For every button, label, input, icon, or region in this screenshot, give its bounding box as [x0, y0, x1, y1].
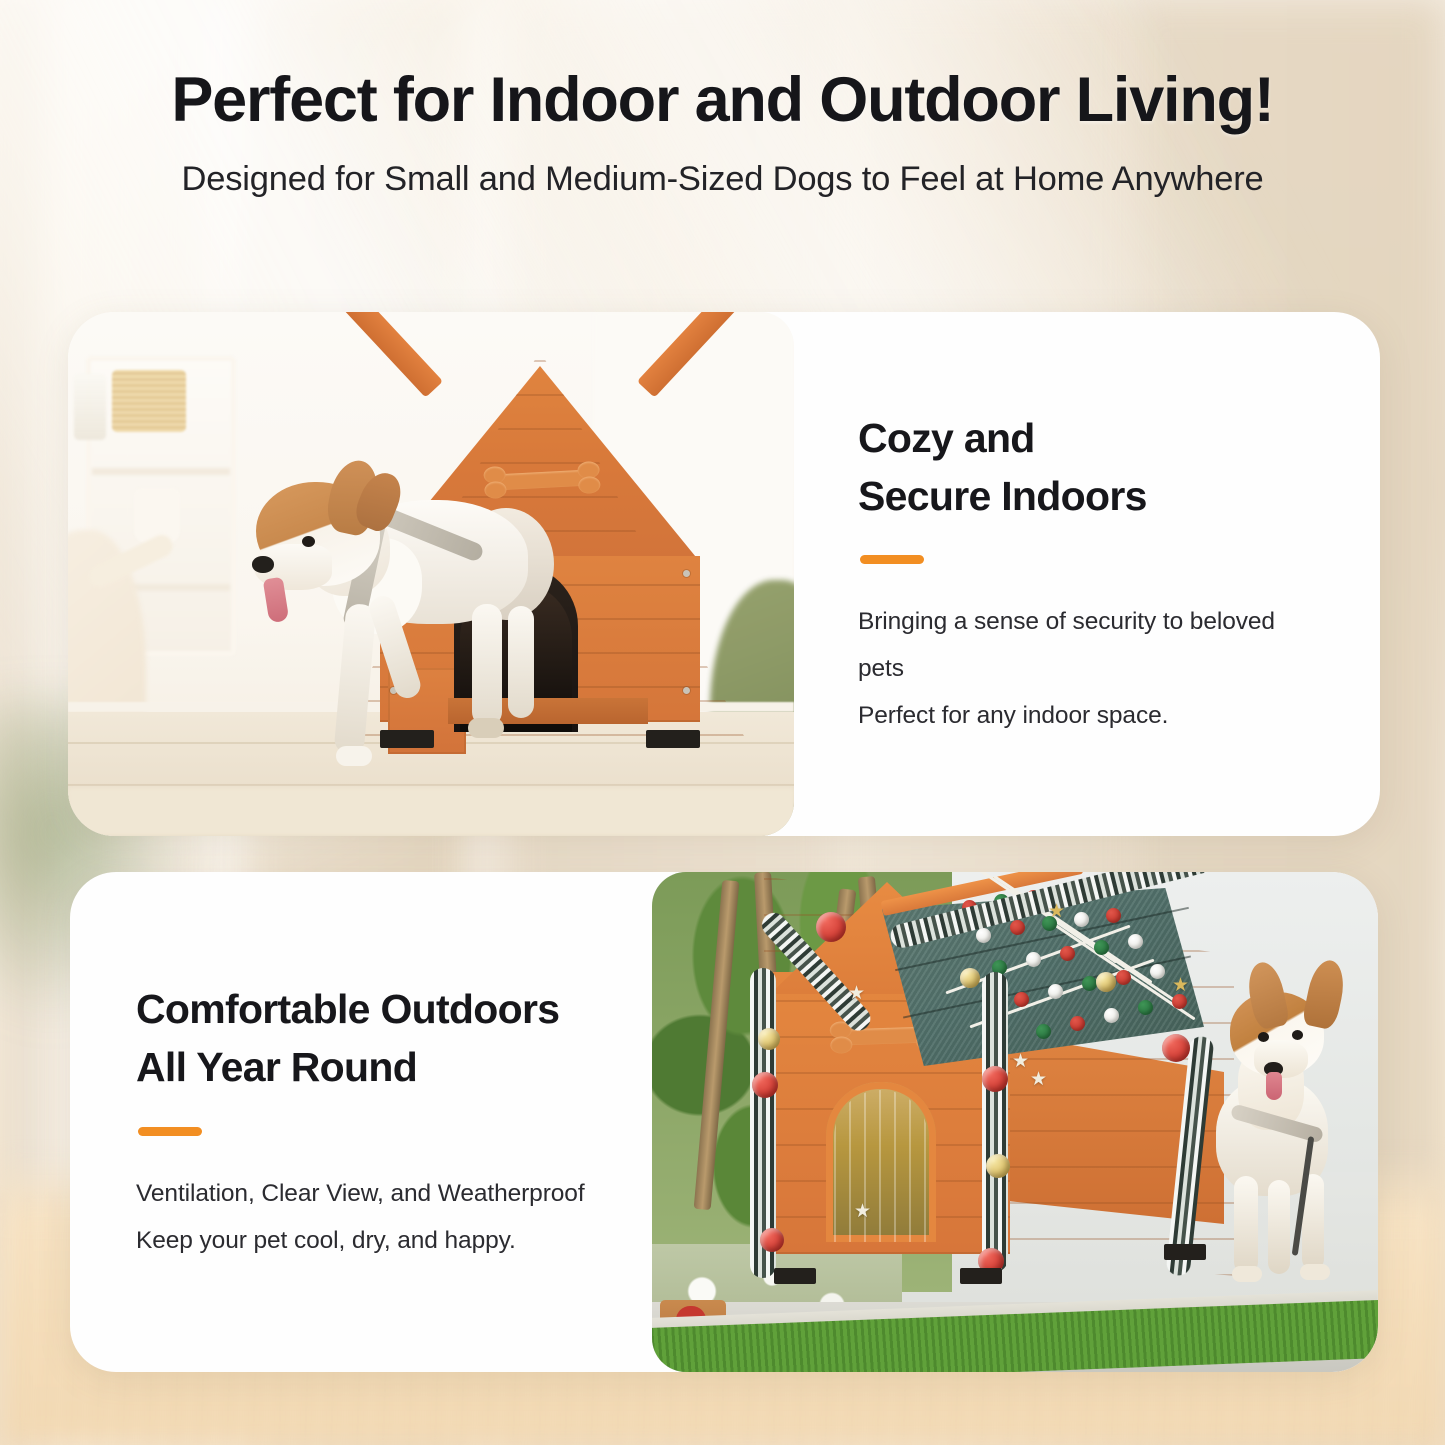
dog-head — [1230, 992, 1324, 1076]
screw-icon — [683, 570, 690, 577]
outdoor-heading-line-2: All Year Round — [136, 1038, 696, 1096]
dog-paw — [1300, 1264, 1330, 1280]
bauble-ornament — [760, 1228, 784, 1252]
indoor-card-heading: Cozy and Secure Indoors — [858, 409, 1324, 525]
bauble-ornament — [986, 1154, 1010, 1178]
dog-leg — [1268, 1180, 1290, 1274]
bauble-ornament — [1096, 972, 1116, 992]
dog-eye — [1292, 1030, 1303, 1040]
indoor-body-line-1: Bringing a sense of security to beloved … — [858, 598, 1324, 692]
bauble-ornament — [982, 1066, 1008, 1092]
dog-leg — [472, 604, 502, 726]
indoor-dog — [236, 464, 566, 764]
indoor-heading-line-2: Secure Indoors — [858, 467, 1324, 525]
tinsel-garland — [982, 972, 1008, 1272]
dog-leg — [1234, 1176, 1258, 1274]
dog-nose — [252, 556, 274, 573]
dog-head — [256, 482, 380, 586]
star-icon: ★ — [1012, 1052, 1029, 1071]
header: Perfect for Indoor and Outdoor Living! D… — [0, 68, 1445, 199]
door-flap-strips — [834, 1090, 928, 1242]
indoor-heading-line-1: Cozy and — [858, 409, 1324, 467]
outdoor-body-line-2: Keep your pet cool, dry, and happy. — [136, 1217, 696, 1264]
outdoor-photo: ★ ★ ★ ★ ★ ★ — [652, 872, 1378, 1372]
dog-eye — [302, 536, 315, 547]
bauble-ornament — [816, 912, 846, 942]
dog-house-foot — [960, 1268, 1002, 1284]
star-icon: ★ — [1030, 1070, 1047, 1089]
star-icon: ★ — [1048, 902, 1065, 921]
page-title: Perfect for Indoor and Outdoor Living! — [0, 68, 1445, 134]
indoor-body-line-2: Perfect for any indoor space. — [858, 692, 1324, 739]
indoor-jar — [74, 374, 106, 440]
outdoor-card-heading: Comfortable Outdoors All Year Round — [136, 980, 696, 1096]
bauble-ornament — [758, 1028, 780, 1050]
outdoor-card-body: Ventilation, Clear View, and Weatherproo… — [136, 1170, 696, 1264]
star-icon: ★ — [848, 984, 865, 1003]
screw-icon — [683, 687, 690, 694]
feature-card-outdoor: Comfortable Outdoors All Year Round Vent… — [70, 872, 1378, 1372]
dog-house-foot — [646, 730, 700, 748]
dog-house-door-window — [826, 1082, 936, 1242]
bauble-ornament — [960, 968, 980, 988]
indoor-card-text: Cozy and Secure Indoors Bringing a sense… — [858, 312, 1324, 836]
dog-leg — [334, 603, 377, 755]
infographic-page: Perfect for Indoor and Outdoor Living! D… — [0, 0, 1445, 1445]
outdoor-accent-divider — [138, 1127, 202, 1136]
indoor-card-body: Bringing a sense of security to beloved … — [858, 598, 1324, 739]
dog-eye — [1258, 1032, 1269, 1042]
indoor-photo — [68, 312, 794, 836]
outdoor-heading-line-1: Comfortable Outdoors — [136, 980, 696, 1038]
indoor-rug — [68, 788, 794, 836]
page-subtitle: Designed for Small and Medium-Sized Dogs… — [0, 160, 1445, 199]
star-icon: ★ — [854, 1202, 871, 1221]
outdoor-body-line-1: Ventilation, Clear View, and Weatherproo… — [136, 1170, 696, 1217]
dog-paw — [468, 718, 504, 738]
dog-leg — [508, 606, 534, 718]
dog-paw — [336, 746, 372, 766]
bauble-ornament — [752, 1072, 778, 1098]
outdoor-dog — [1182, 986, 1362, 1286]
dog-house-outdoor: ★ ★ ★ ★ ★ ★ — [764, 876, 1234, 1276]
indoor-accent-divider — [860, 555, 924, 564]
dog-paw — [1232, 1266, 1262, 1282]
dog-house-foot — [774, 1268, 816, 1284]
feature-card-indoor: Cozy and Secure Indoors Bringing a sense… — [68, 312, 1380, 836]
indoor-basket — [112, 370, 186, 432]
outdoor-card-text: Comfortable Outdoors All Year Round Vent… — [136, 872, 696, 1372]
dog-tongue — [1266, 1072, 1282, 1100]
